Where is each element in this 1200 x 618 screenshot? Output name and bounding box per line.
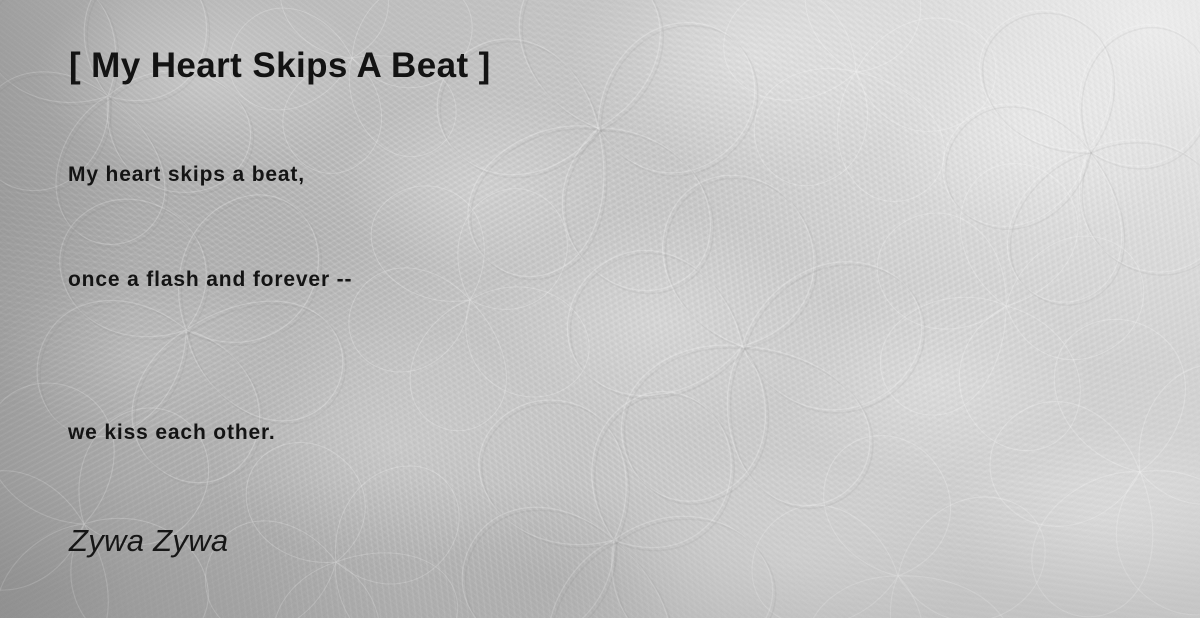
poem-image-card: [ My Heart Skips A Beat ] My heart skips…: [0, 0, 1200, 618]
poem-title: [ My Heart Skips A Beat ]: [69, 47, 491, 86]
poem-line-1: My heart skips a beat,: [68, 163, 305, 186]
poem-line-3: we kiss each other.: [68, 421, 276, 444]
poem-author-byline: Zywa Zywa: [69, 524, 228, 558]
poem-text-block: [ My Heart Skips A Beat ] My heart skips…: [0, 0, 1200, 618]
poem-line-2: once a flash and forever --: [68, 268, 352, 291]
